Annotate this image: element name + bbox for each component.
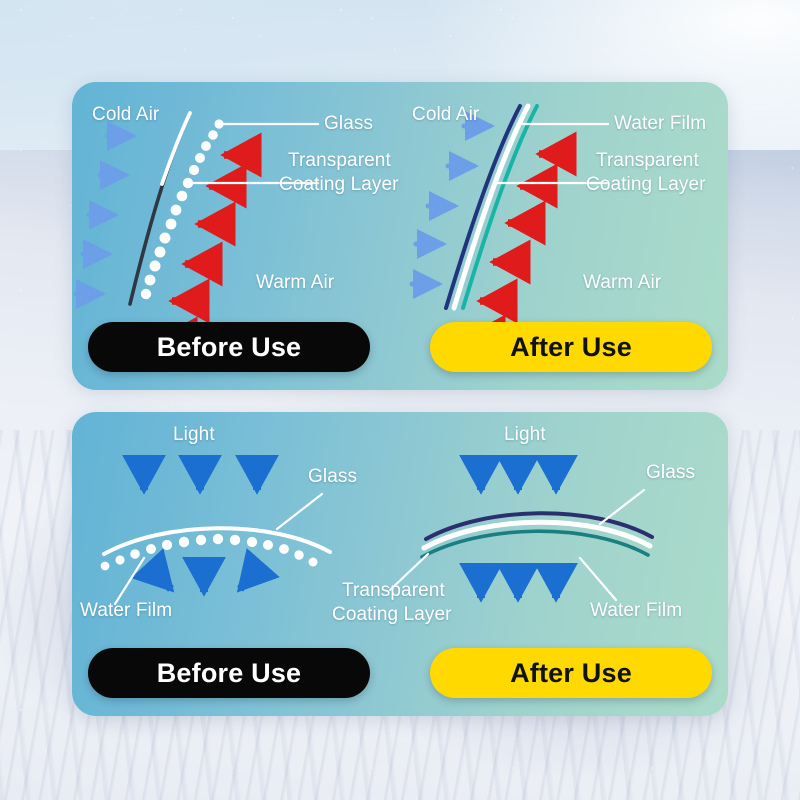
light-card: Light Glass Water Film Before Use (72, 412, 728, 716)
light-after-panel: Light Glass Water Film Transparent Coati… (400, 412, 728, 716)
after-use-pill-light-label: After Use (510, 658, 632, 689)
glass-label: Glass (308, 466, 357, 488)
fog-after-panel: Cold Air Warm Air Water Film Transparent… (400, 82, 728, 390)
incoming-light-arrows (144, 459, 257, 490)
before-use-pill-light-label: Before Use (157, 658, 302, 689)
before-use-pill-fog[interactable]: Before Use (88, 322, 370, 372)
water-film-label: Water Film (80, 600, 172, 622)
cold-air-label: Cold Air (92, 104, 159, 126)
light-before-panel: Light Glass Water Film Before Use (72, 412, 400, 716)
water-film-label: Water Film (590, 600, 682, 622)
coating-label-line1: Transparent (288, 150, 391, 172)
water-droplet-row (101, 534, 318, 571)
incoming-light-arrows (481, 459, 556, 490)
light-label: Light (173, 424, 215, 446)
after-use-pill-fog[interactable]: After Use (430, 322, 712, 372)
fog-before-panel: Cold Air Warm Air Glass Transparent Coat… (72, 82, 400, 390)
coated-glass-stack (422, 513, 652, 557)
before-use-pill-fog-label: Before Use (157, 332, 302, 363)
before-use-pill-light[interactable]: Before Use (88, 648, 370, 698)
coating-label-line2: Coating Layer (332, 604, 452, 626)
coating-label-line2: Coating Layer (586, 174, 706, 196)
water-film-label: Water Film (614, 113, 706, 135)
after-use-pill-fog-label: After Use (510, 332, 632, 363)
warm-air-label: Warm Air (583, 272, 661, 294)
coated-glass-stack (446, 106, 537, 308)
fog-card: Cold Air Warm Air Glass Transparent Coat… (72, 82, 728, 390)
cold-air-arrows (76, 136, 132, 294)
glass-label: Glass (646, 462, 695, 484)
transmitted-light-arrows (481, 570, 556, 598)
scattered-light-arrows (148, 564, 262, 592)
coating-label-line1: Transparent (342, 580, 445, 602)
light-label: Light (504, 424, 546, 446)
coating-label-line2: Coating Layer (279, 174, 399, 196)
glass-label: Glass (324, 113, 373, 135)
after-use-pill-light[interactable]: After Use (430, 648, 712, 698)
warm-air-label: Warm Air (256, 272, 334, 294)
coating-label-line1: Transparent (596, 150, 699, 172)
cold-air-label: Cold Air (412, 104, 479, 126)
